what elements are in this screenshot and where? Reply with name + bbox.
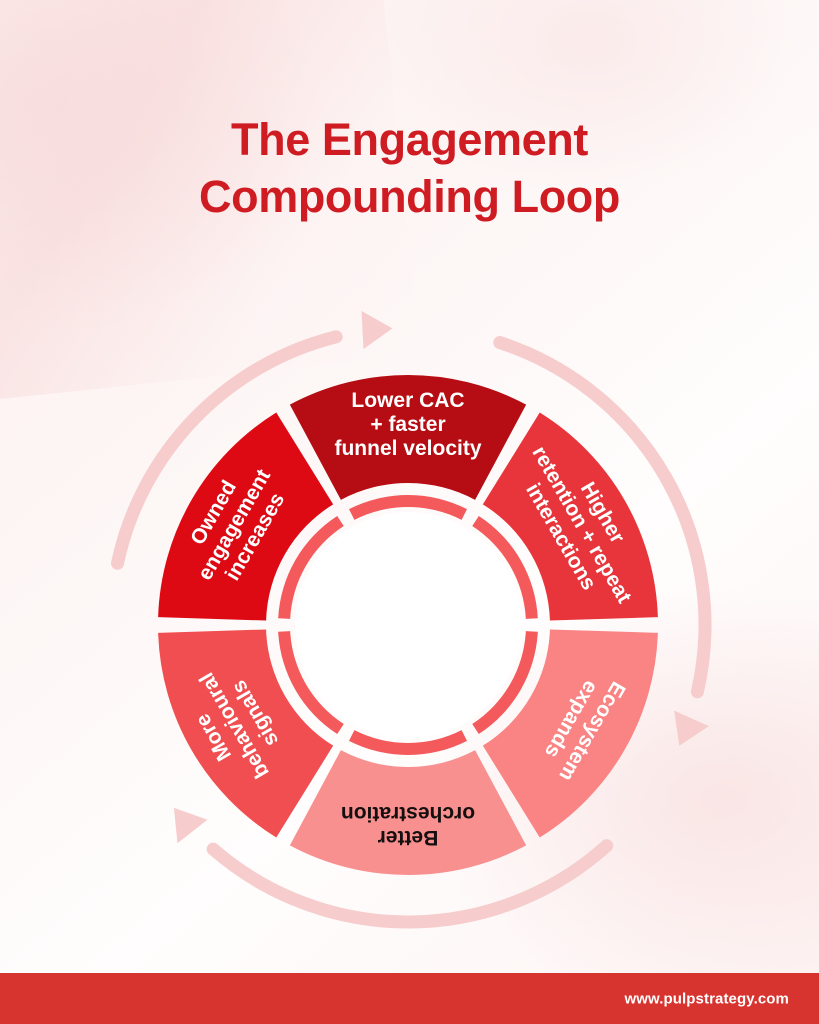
infographic-page: The Engagement Compounding Loop Lower CA… [0,0,819,1024]
page-title: The Engagement Compounding Loop [0,112,819,225]
arrow-head [362,309,394,349]
cycle-center-hub [295,512,521,738]
title-line-1: The Engagement [0,112,819,169]
footer-bar: www.pulpstrategy.com [0,973,819,1024]
arrow-head [159,796,207,843]
cycle-diagram: Lower CAC+ fasterfunnel velocityHigherre… [0,248,819,948]
title-line-2: Compounding Loop [0,169,819,226]
footer-url: www.pulpstrategy.com [624,990,789,1007]
arrow-head [662,711,709,754]
